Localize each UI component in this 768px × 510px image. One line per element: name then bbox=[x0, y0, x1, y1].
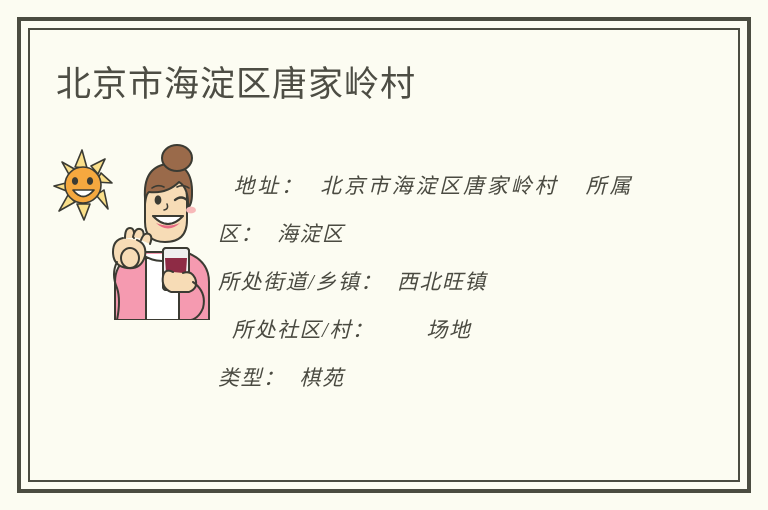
community-label: 所处社区/村： bbox=[232, 318, 374, 342]
page-title: 北京市海淀区唐家岭村 bbox=[56, 62, 416, 108]
page-root: 北京市海淀区唐家岭村 bbox=[0, 0, 768, 510]
district-value: 海淀区 bbox=[277, 222, 345, 246]
street-label: 所处街道/乡镇： bbox=[218, 270, 383, 294]
woman-figure bbox=[113, 145, 209, 320]
type-label: 类型： bbox=[218, 366, 286, 390]
sun-icon bbox=[54, 150, 112, 220]
illustration-woman-with-juice bbox=[53, 142, 221, 320]
address-label: 地址： bbox=[232, 174, 305, 198]
street-value: 西北旺镇 bbox=[397, 270, 487, 294]
type-value: 棋苑 bbox=[300, 366, 345, 390]
address-value: 北京市海淀区唐家岭村 bbox=[319, 174, 559, 198]
community-value: 场地 bbox=[426, 318, 471, 342]
location-details-block: 地址：北京市海淀区唐家岭村所属区：海淀区 所处街道/乡镇：西北旺镇 所处社区/村… bbox=[218, 162, 632, 402]
